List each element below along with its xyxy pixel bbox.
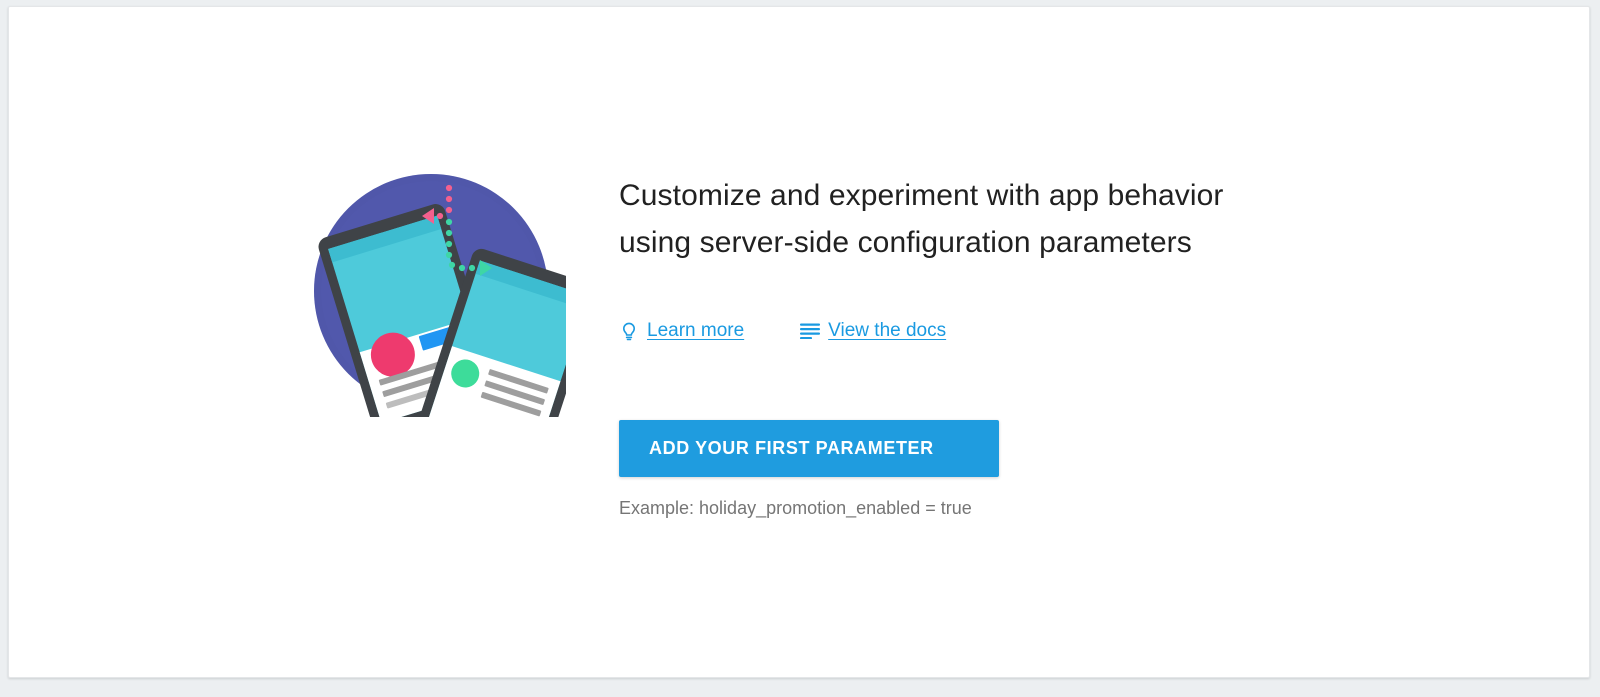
- view-docs-link-label: View the docs: [828, 320, 946, 342]
- empty-state-text-column: Customize and experiment with app behavi…: [619, 172, 1279, 266]
- page-title: Customize and experiment with app behavi…: [619, 172, 1239, 266]
- view-docs-link[interactable]: View the docs: [800, 320, 946, 342]
- learn-more-link[interactable]: Learn more: [619, 320, 744, 342]
- add-first-parameter-button[interactable]: ADD YOUR FIRST PARAMETER: [619, 420, 999, 477]
- lightbulb-icon: [619, 321, 639, 341]
- article-icon: [800, 321, 820, 341]
- helper-links-row: Learn more View the docs: [619, 320, 946, 342]
- example-hint-text: Example: holiday_promotion_enabled = tru…: [619, 496, 972, 520]
- remote-config-illustration: [296, 159, 566, 417]
- empty-state-card: Customize and experiment with app behavi…: [8, 6, 1590, 678]
- empty-state-content: Customize and experiment with app behavi…: [9, 7, 1589, 677]
- page-root: Customize and experiment with app behavi…: [0, 0, 1600, 697]
- learn-more-link-label: Learn more: [647, 320, 744, 342]
